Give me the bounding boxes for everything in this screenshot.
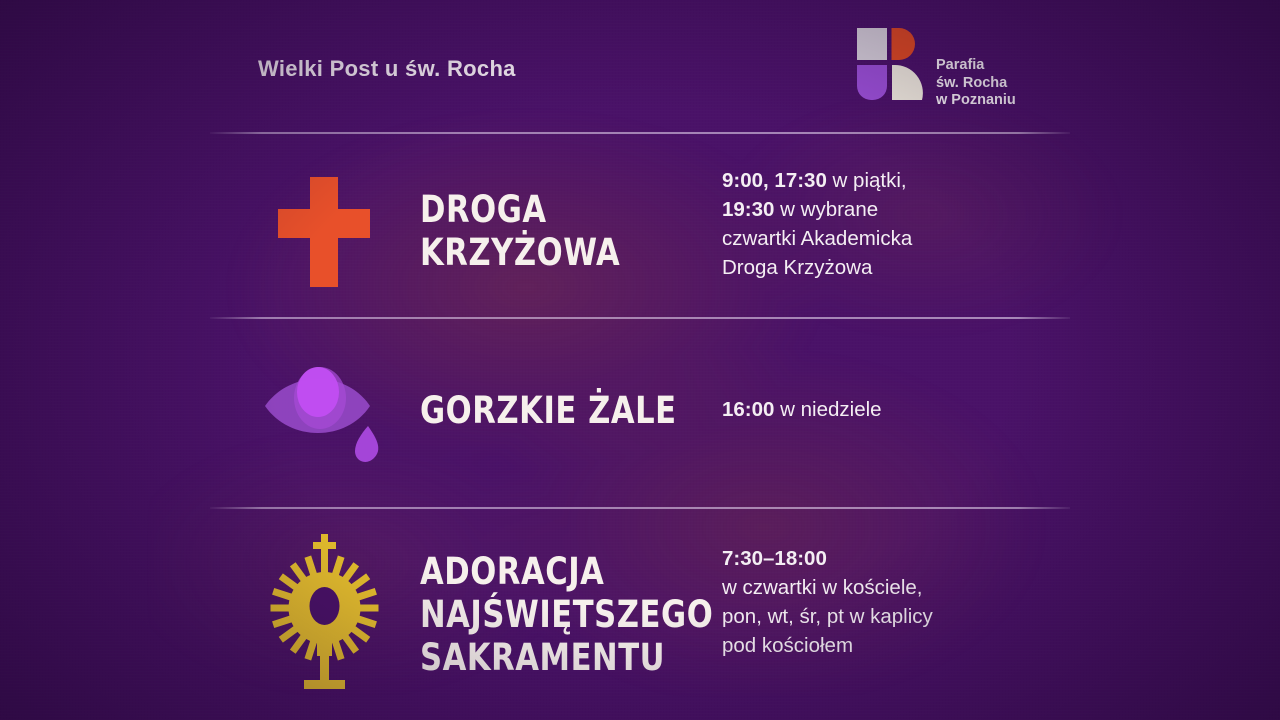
event-row-adoracja: ADORACJA NAJŚWIĘTSZEGO SAKRAMENTU 7:30–1… (210, 528, 1070, 698)
poster-canvas: Wielki Post u św. Rocha Parafia św. Roch… (0, 0, 1280, 720)
schedule-line: 19:30 w wybrane (722, 195, 1042, 224)
event-row-droga-krzyzowa: DROGA KRZYŻOWA 9:00, 17:30 w piątki, 19:… (210, 150, 1070, 310)
schedule-text: w piątki, (827, 169, 907, 192)
schedule-text: Droga Krzyżowa (722, 256, 872, 279)
event-schedule-1: 9:00, 17:30 w piątki, 19:30 w wybrane cz… (722, 166, 1042, 282)
logo-text: Parafia św. Rocha w Poznaniu (936, 57, 1016, 110)
schedule-text: pon, wt, śr, pt w kaplicy (722, 605, 933, 628)
event-name-2: GORZKIE ŻALE (420, 389, 677, 432)
poster-header: Wielki Post u św. Rocha Parafia św. Roch… (0, 0, 1280, 118)
event-name-3: ADORACJA NAJŚWIĘTSZEGO SAKRAMENTU (420, 550, 713, 679)
divider-mid-1 (210, 317, 1070, 319)
schedule-text: w niedziele (774, 398, 881, 421)
event-name-3-line-2: NAJŚWIĘTSZEGO (420, 593, 713, 636)
schedule-text: czwartki Akademicka (722, 227, 912, 250)
schedule-line: pod kościołem (722, 631, 1042, 660)
event-name-1-line-1: DROGA (420, 188, 620, 231)
schedule-line: pon, wt, śr, pt w kaplicy (722, 602, 1042, 631)
schedule-line: 16:00 w niedziele (722, 395, 1042, 424)
schedule-time: 16:00 (722, 398, 774, 421)
event-schedule-2: 16:00 w niedziele (722, 395, 1042, 424)
page-title: Wielki Post u św. Rocha (258, 56, 516, 82)
schedule-line: 9:00, 17:30 w piątki, (722, 166, 1042, 195)
schedule-time: 19:30 (722, 198, 774, 221)
parafia-logo[interactable]: Parafia św. Rocha w Poznaniu (856, 27, 1056, 101)
schedule-time: 9:00, 17:30 (722, 169, 827, 192)
divider-mid-2 (210, 507, 1070, 509)
schedule-line: czwartki Akademicka (722, 224, 1042, 253)
schedule-text: pod kościołem (722, 634, 853, 657)
cross-icon (260, 165, 400, 300)
logo-mark-icon (856, 27, 930, 101)
monstrance-icon (260, 530, 400, 700)
schedule-text: w czwartki w kościele, (722, 576, 923, 599)
schedule-text: w wybrane (774, 198, 878, 221)
event-name-1: DROGA KRZYŻOWA (420, 188, 620, 274)
logo-line-3: w Poznaniu (936, 92, 1016, 110)
divider-top (210, 132, 1070, 134)
event-name-1-line-2: KRZYŻOWA (420, 231, 620, 274)
schedule-line: w czwartki w kościele, (722, 573, 1042, 602)
schedule-line: Droga Krzyżowa (722, 253, 1042, 282)
event-name-3-line-1: ADORACJA (420, 550, 713, 593)
event-name-2-line-1: GORZKIE ŻALE (420, 389, 677, 432)
event-name-3-line-3: SAKRAMENTU (420, 636, 713, 679)
logo-line-2: św. Rocha (936, 75, 1016, 93)
logo-line-1: Parafia (936, 57, 1016, 75)
event-row-gorzkie-zale: GORZKIE ŻALE 16:00 w niedziele (210, 340, 1070, 500)
event-schedule-3: 7:30–18:00 w czwartki w kościele, pon, w… (722, 544, 1042, 660)
weeping-eye-icon (260, 354, 400, 479)
schedule-time: 7:30–18:00 (722, 547, 827, 570)
schedule-line: 7:30–18:00 (722, 544, 1042, 573)
